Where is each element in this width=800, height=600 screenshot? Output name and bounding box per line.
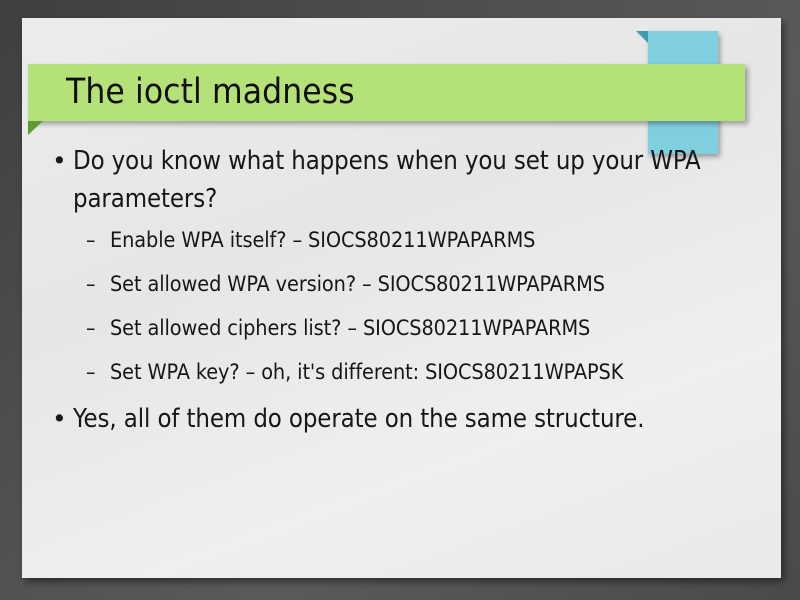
list-item-label: Enable WPA itself? – SIOCS80211WPAPARMS bbox=[110, 224, 757, 257]
presentation-frame: The ioctl madness • Do you know what hap… bbox=[0, 0, 800, 600]
bullet-dash-icon: – bbox=[86, 224, 110, 257]
list-item-label: Do you know what happens when you set up… bbox=[73, 142, 757, 218]
bullet-dot-icon: • bbox=[51, 400, 73, 438]
slide-surface: The ioctl madness • Do you know what hap… bbox=[22, 18, 781, 578]
title-banner-fold-icon bbox=[28, 121, 43, 135]
list-item: – Set allowed ciphers list? – SIOCS80211… bbox=[86, 312, 757, 345]
list-item: • Yes, all of them do operate on the sam… bbox=[51, 400, 757, 438]
list-item: • Do you know what happens when you set … bbox=[51, 142, 757, 218]
blue-ribbon-fold-icon bbox=[636, 31, 648, 43]
list-item: – Enable WPA itself? – SIOCS80211WPAPARM… bbox=[86, 224, 757, 257]
slide-body: • Do you know what happens when you set … bbox=[22, 142, 781, 438]
bullet-dash-icon: – bbox=[86, 356, 110, 389]
bullet-dash-icon: – bbox=[86, 268, 110, 301]
list-item-label: Set WPA key? – oh, it's different: SIOCS… bbox=[110, 356, 757, 389]
list-item-label: Set allowed WPA version? – SIOCS80211WPA… bbox=[110, 268, 757, 301]
bullet-dash-icon: – bbox=[86, 312, 110, 345]
list-item: – Set allowed WPA version? – SIOCS80211W… bbox=[86, 268, 757, 301]
title-banner: The ioctl madness bbox=[28, 64, 745, 121]
bullet-dot-icon: • bbox=[51, 142, 73, 180]
list-item-label: Set allowed ciphers list? – SIOCS80211WP… bbox=[110, 312, 757, 345]
list-item: – Set WPA key? – oh, it's different: SIO… bbox=[86, 356, 757, 389]
sub-list: – Enable WPA itself? – SIOCS80211WPAPARM… bbox=[51, 224, 757, 389]
page-title: The ioctl madness bbox=[28, 75, 355, 110]
list-item-label: Yes, all of them do operate on the same … bbox=[73, 400, 757, 438]
